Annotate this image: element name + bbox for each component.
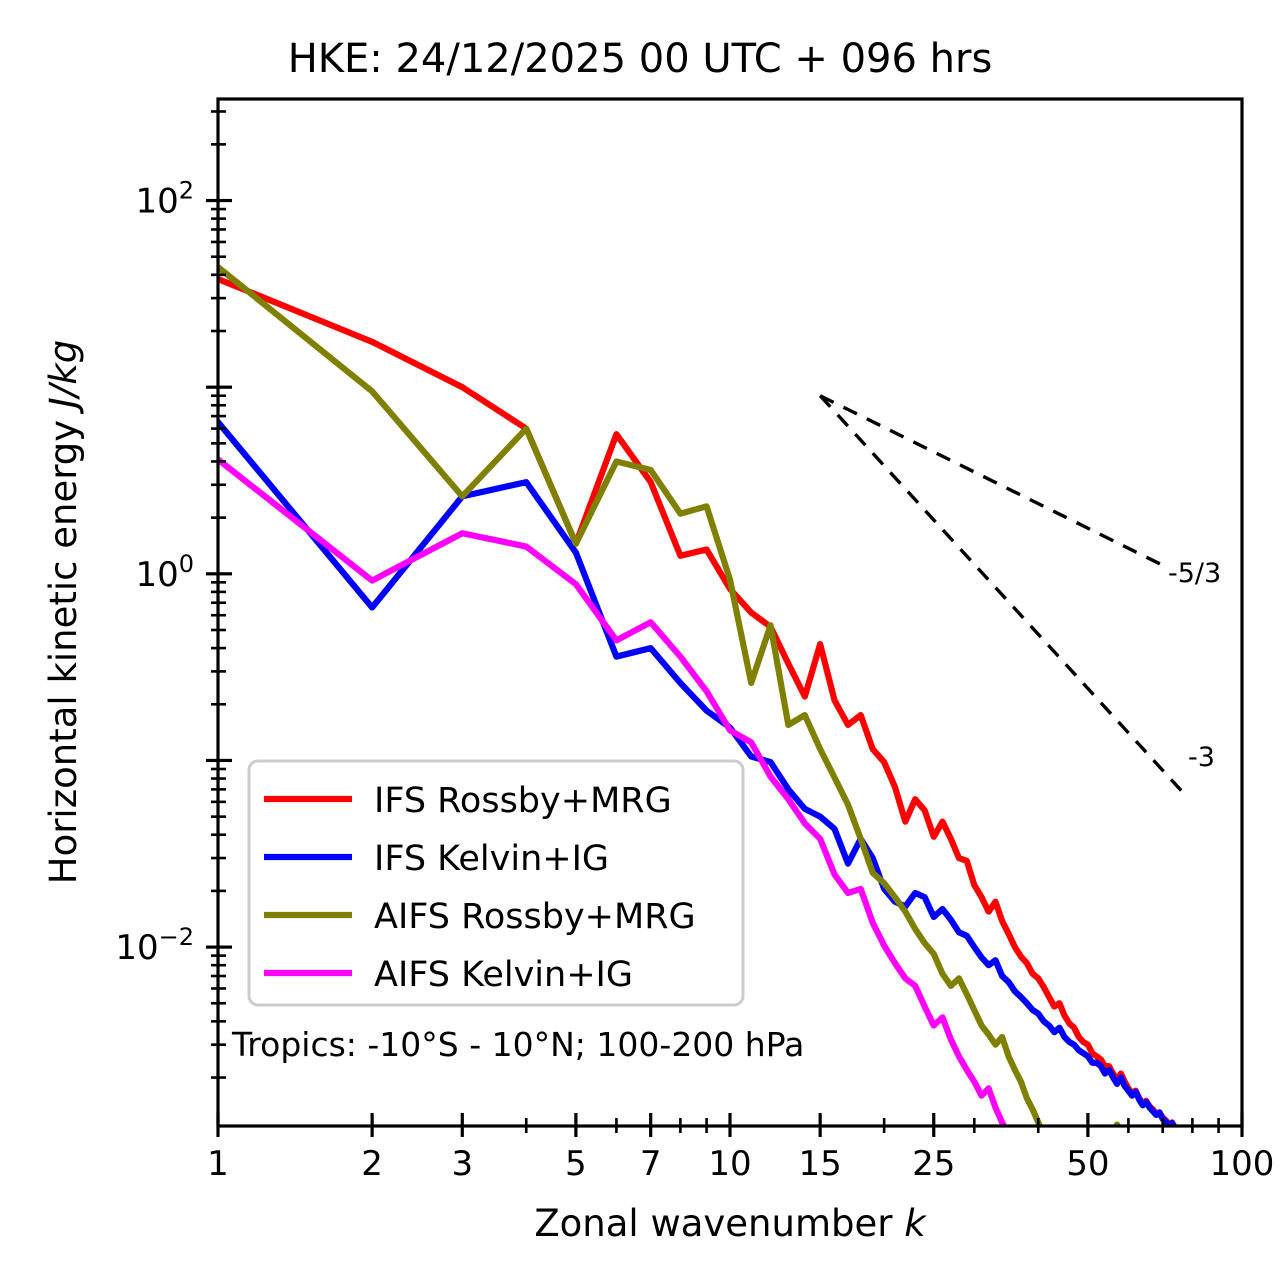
slope-label-53: -5/3 [1168,558,1221,589]
slope-label-3: -3 [1188,742,1215,773]
legend-label-2: AIFS Rossby+MRG [374,897,696,937]
x-tick-label: 50 [1066,1144,1109,1184]
x-tick-label: 25 [912,1144,955,1184]
chart-legend[interactable]: IFS Rossby+MRGIFS Kelvin+IGAIFS Rossby+M… [249,761,743,1005]
y-tick-label: 100 [135,550,194,595]
x-tick-label: 100 [1210,1144,1275,1184]
legend-label-1: IFS Kelvin+IG [374,839,609,879]
y-tick-label: 102 [135,177,194,222]
region-note: Tropics: -10°S - 10°N; 100-200 hPa [231,1025,804,1064]
x-tick-label: 15 [799,1144,842,1184]
figure-canvas: HKE: 24/12/2025 00 UTC + 096 hrs -5/3 -3… [0,0,1280,1288]
x-axis-label: Zonal wavenumber k [534,1202,927,1245]
y-tick-label: 10−2 [115,923,194,968]
x-tick-label: 7 [640,1144,662,1184]
chart-plot: -5/3 -3 1235710152550100 10210010−2 Zona… [0,0,1280,1288]
legend-label-0: IFS Rossby+MRG [374,781,672,821]
x-tick-label: 3 [451,1144,473,1184]
y-axis-label: Horizontal kinetic energy J/kg [42,340,85,884]
x-tick-label: 2 [361,1144,383,1184]
y-axis-ticks: 10210010−2 [115,177,232,969]
legend-label-3: AIFS Kelvin+IG [374,955,633,995]
x-tick-label: 1 [207,1144,229,1184]
x-tick-label: 5 [565,1144,587,1184]
x-tick-label: 10 [708,1144,751,1184]
